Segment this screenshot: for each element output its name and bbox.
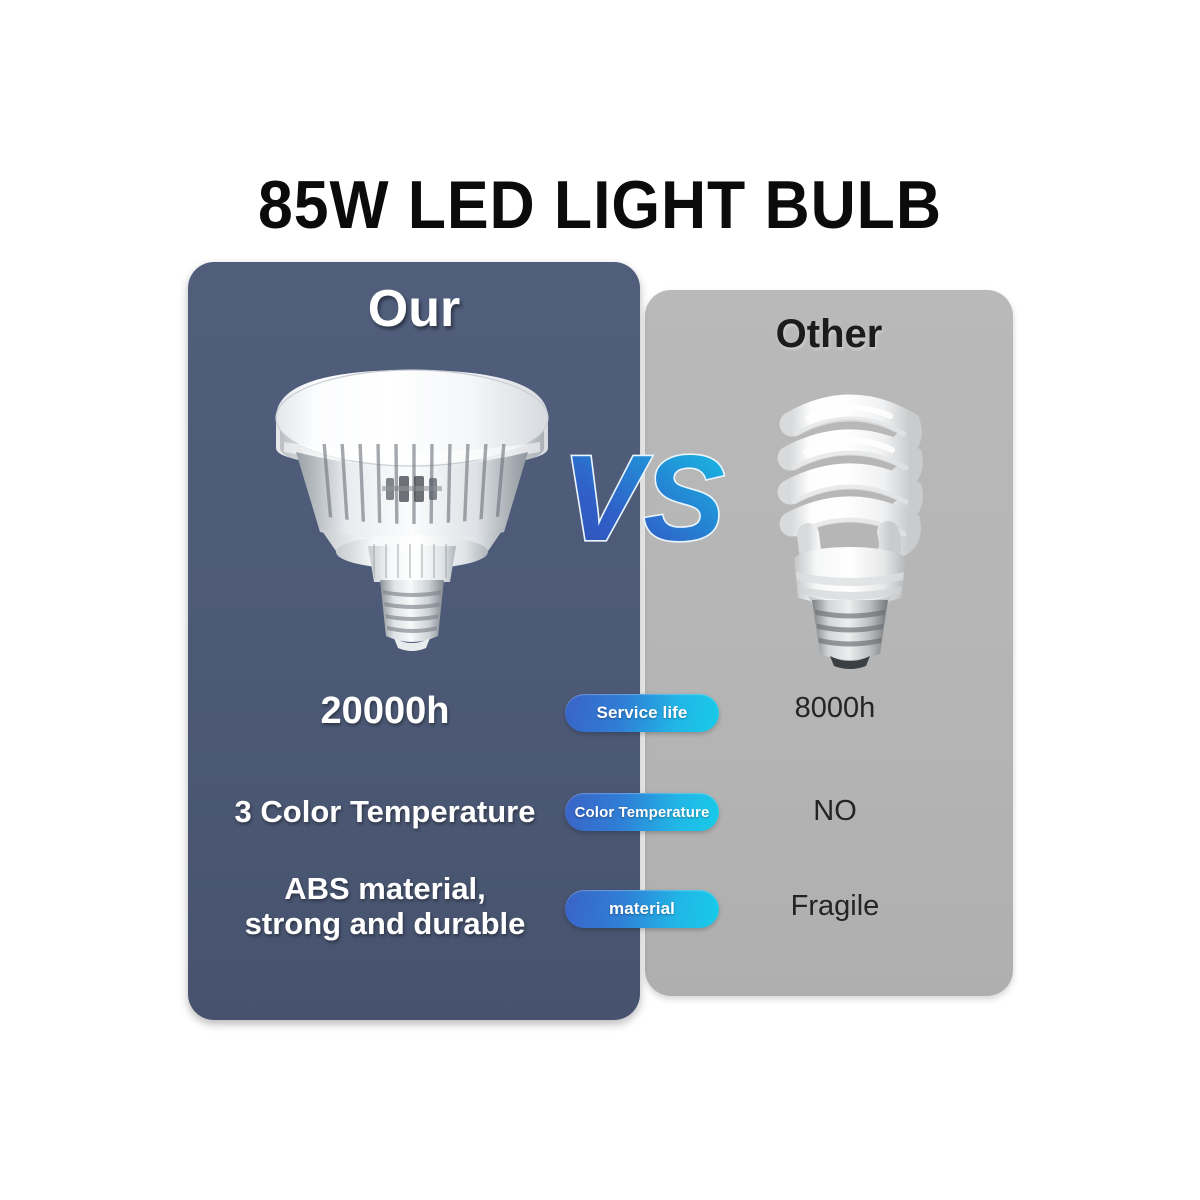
vs-divider-icon: VS [556,428,736,578]
our-value-color-temperature: 3 Color Temperature [205,795,565,830]
feature-row-color-temperature: 3 Color Temperature Color Temperature NO [0,777,1200,851]
badge-service-life[interactable]: Service life [565,694,719,732]
competitor-value-material: Fragile [725,890,945,923]
badge-color-temperature[interactable]: Color Temperature [565,793,719,831]
our-panel-heading: Our [188,279,640,339]
feature-row-material: ABS material, strong and durable materia… [0,872,1200,946]
feature-row-service-life: 20000h Service life 8000h [0,676,1200,750]
competitor-value-color-temperature: NO [725,795,945,828]
cfl-spiral-bulb-icon [762,382,938,670]
our-value-material: ABS material, strong and durable [205,872,565,941]
competitor-value-service-life: 8000h [725,692,945,725]
vs-label: VS [562,430,725,566]
led-dome-bulb-icon [262,356,562,656]
our-value-service-life: 20000h [205,690,565,733]
competitor-panel-heading: Other [645,312,1013,357]
page-title: 85W LED LIGHT BULB [48,166,1152,244]
badge-material[interactable]: material [565,890,719,928]
